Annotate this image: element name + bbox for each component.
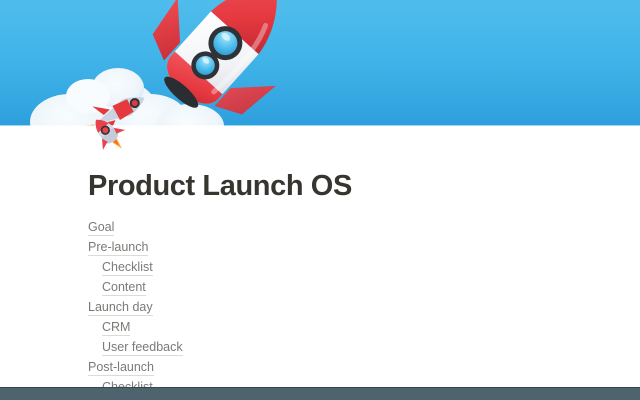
toc-item-pre-launch[interactable]: Pre-launch [0, 237, 640, 257]
toc-link[interactable]: Post-launch [88, 359, 154, 376]
toc-link[interactable]: CRM [102, 319, 130, 336]
page-root: Product Launch OS Goal Pre-launch Checkl… [0, 0, 640, 400]
toc-item-post-launch[interactable]: Post-launch [0, 357, 640, 377]
toc-link[interactable]: Pre-launch [88, 239, 148, 256]
toc-link[interactable]: Launch day [88, 299, 153, 316]
bottom-chrome-bar [0, 387, 640, 400]
page-title: Product Launch OS [88, 170, 352, 203]
toc-item-user-feedback[interactable]: User feedback [0, 337, 640, 357]
page-cover-image[interactable] [0, 0, 640, 126]
toc-link[interactable]: User feedback [102, 339, 183, 356]
toc-item-crm[interactable]: CRM [0, 317, 640, 337]
toc-link[interactable]: Checklist [102, 259, 153, 276]
table-of-contents: Goal Pre-launch Checklist Content Launch… [0, 217, 640, 397]
toc-item-goal[interactable]: Goal [0, 217, 640, 237]
toc-item-content[interactable]: Content [0, 277, 640, 297]
toc-link[interactable]: Content [102, 279, 146, 296]
rocket-emoji-glyph [87, 112, 125, 150]
rocket-emoji-icon[interactable] [84, 109, 128, 153]
rocket-illustration [0, 0, 640, 126]
toc-link[interactable]: Goal [88, 219, 114, 236]
toc-item-launch-day[interactable]: Launch day [0, 297, 640, 317]
toc-item-checklist[interactable]: Checklist [0, 257, 640, 277]
